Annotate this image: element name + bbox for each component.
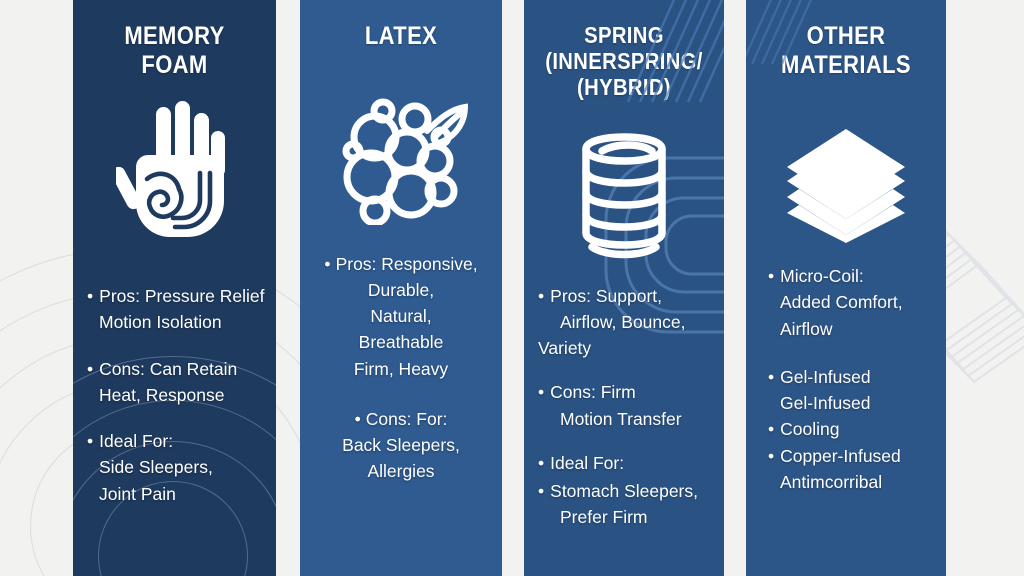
bullet-group: Cons: Firm Motion Transfer	[538, 379, 714, 432]
bullet-group: Ideal For: Side Sleepers, Joint Pain	[87, 428, 266, 507]
bullet-line: Stomach Sleepers,	[538, 478, 714, 504]
column-title-memory-foam: MEMORY FOAM	[85, 22, 264, 79]
column-spring[interactable]: SPRING (INNERSPRING/ (HYBRID) Pros: Supp…	[524, 0, 724, 576]
bullet-line: Heat, Response	[87, 382, 266, 408]
bullet-line: Motion Transfer	[538, 406, 714, 432]
hatch-decoration-column-4	[746, 0, 828, 66]
bullet-line: Breathable	[308, 329, 494, 355]
column-other-materials[interactable]: OTHER MATERIALS Micro-Coil: Added Comfor…	[746, 0, 946, 576]
bullet-group: Pros: Pressure Relief Motion Isolation	[87, 283, 266, 336]
bullet-line: Joint Pain	[87, 481, 266, 507]
bullet-line: Cooling	[768, 416, 936, 442]
bullet-line: Cons: Firm	[538, 379, 714, 405]
bullet-group: Ideal For:	[538, 450, 714, 476]
bullet-line: Copper-Infused	[768, 443, 936, 469]
bullet-group: Cons: For: Back Sleepers, Allergies	[308, 406, 494, 485]
bullet-line: Prefer Firm	[538, 504, 714, 530]
bullet-line: Natural,	[308, 303, 494, 329]
bullet-list-latex: Pros: Responsive, Durable, Natural, Brea…	[300, 251, 502, 509]
bullet-list-other-materials: Micro-Coil: Added Comfort, Airflow Gel-I…	[746, 263, 946, 517]
column-memory-foam[interactable]: MEMORY FOAM	[73, 0, 276, 576]
column-title-latex: LATEX	[312, 22, 490, 51]
bullet-line: Cons: For:	[308, 406, 494, 432]
bullet-line: Micro-Coil:	[768, 263, 936, 289]
bullet-group: Cons: Can Retain Heat, Response	[87, 356, 266, 409]
bullet-list-spring: Pros: Support, Airflow, Bounce, Variety …	[524, 283, 724, 549]
comparison-board: MEMORY FOAM	[0, 0, 1024, 576]
bullet-line: Cons: Can Retain	[87, 356, 266, 382]
bullet-line: Firm, Heavy	[308, 356, 494, 382]
bullet-line: Durable,	[308, 277, 494, 303]
bullet-line: Pros: Support,	[538, 283, 714, 309]
bullet-line: Gel-Infused	[768, 390, 936, 416]
bullet-line: Antimcorribal	[768, 469, 936, 495]
bullet-line: Allergies	[308, 458, 494, 484]
column-latex[interactable]: LATEX	[300, 0, 502, 576]
bullet-line: Side Sleepers,	[87, 454, 266, 480]
bullet-line: Motion Isolation	[87, 309, 266, 335]
bullet-group: Cooling	[768, 416, 936, 442]
bullet-group: Pros: Support, Airflow, Bounce, Variety	[538, 283, 714, 362]
bullet-group: Pros: Responsive, Durable, Natural, Brea…	[308, 251, 494, 382]
bullet-line: Ideal For:	[87, 428, 266, 454]
bullet-line: Airflow	[768, 316, 936, 342]
bullet-group: Micro-Coil: Added Comfort, Airflow	[768, 263, 936, 342]
stacked-layers-icon	[783, 127, 909, 243]
bullet-line: Gel-Infused	[768, 364, 936, 390]
hand-print-icon	[116, 97, 234, 247]
bullet-group: Copper-Infused Antimcorribal	[768, 443, 936, 496]
bullet-line: Pros: Responsive,	[308, 251, 494, 277]
bullet-group: Gel-Infused Gel-Infused	[768, 364, 936, 417]
bullet-group: Stomach Sleepers, Prefer Firm	[538, 478, 714, 531]
coil-spring-icon	[572, 127, 676, 261]
bullet-list-memory-foam: Pros: Pressure Relief Motion Isolation C…	[73, 283, 276, 507]
bullet-line: Back Sleepers,	[308, 432, 494, 458]
bullet-line: Airflow, Bounce,	[538, 309, 714, 335]
bullet-line: Ideal For:	[538, 450, 714, 476]
bullet-line: Added Comfort,	[768, 289, 936, 315]
latex-bubbles-leaf-icon	[331, 93, 471, 225]
bullet-line: Variety	[538, 335, 714, 361]
hatch-decoration-column-3	[618, 0, 724, 104]
bullet-line: Pros: Pressure Relief	[87, 283, 266, 309]
